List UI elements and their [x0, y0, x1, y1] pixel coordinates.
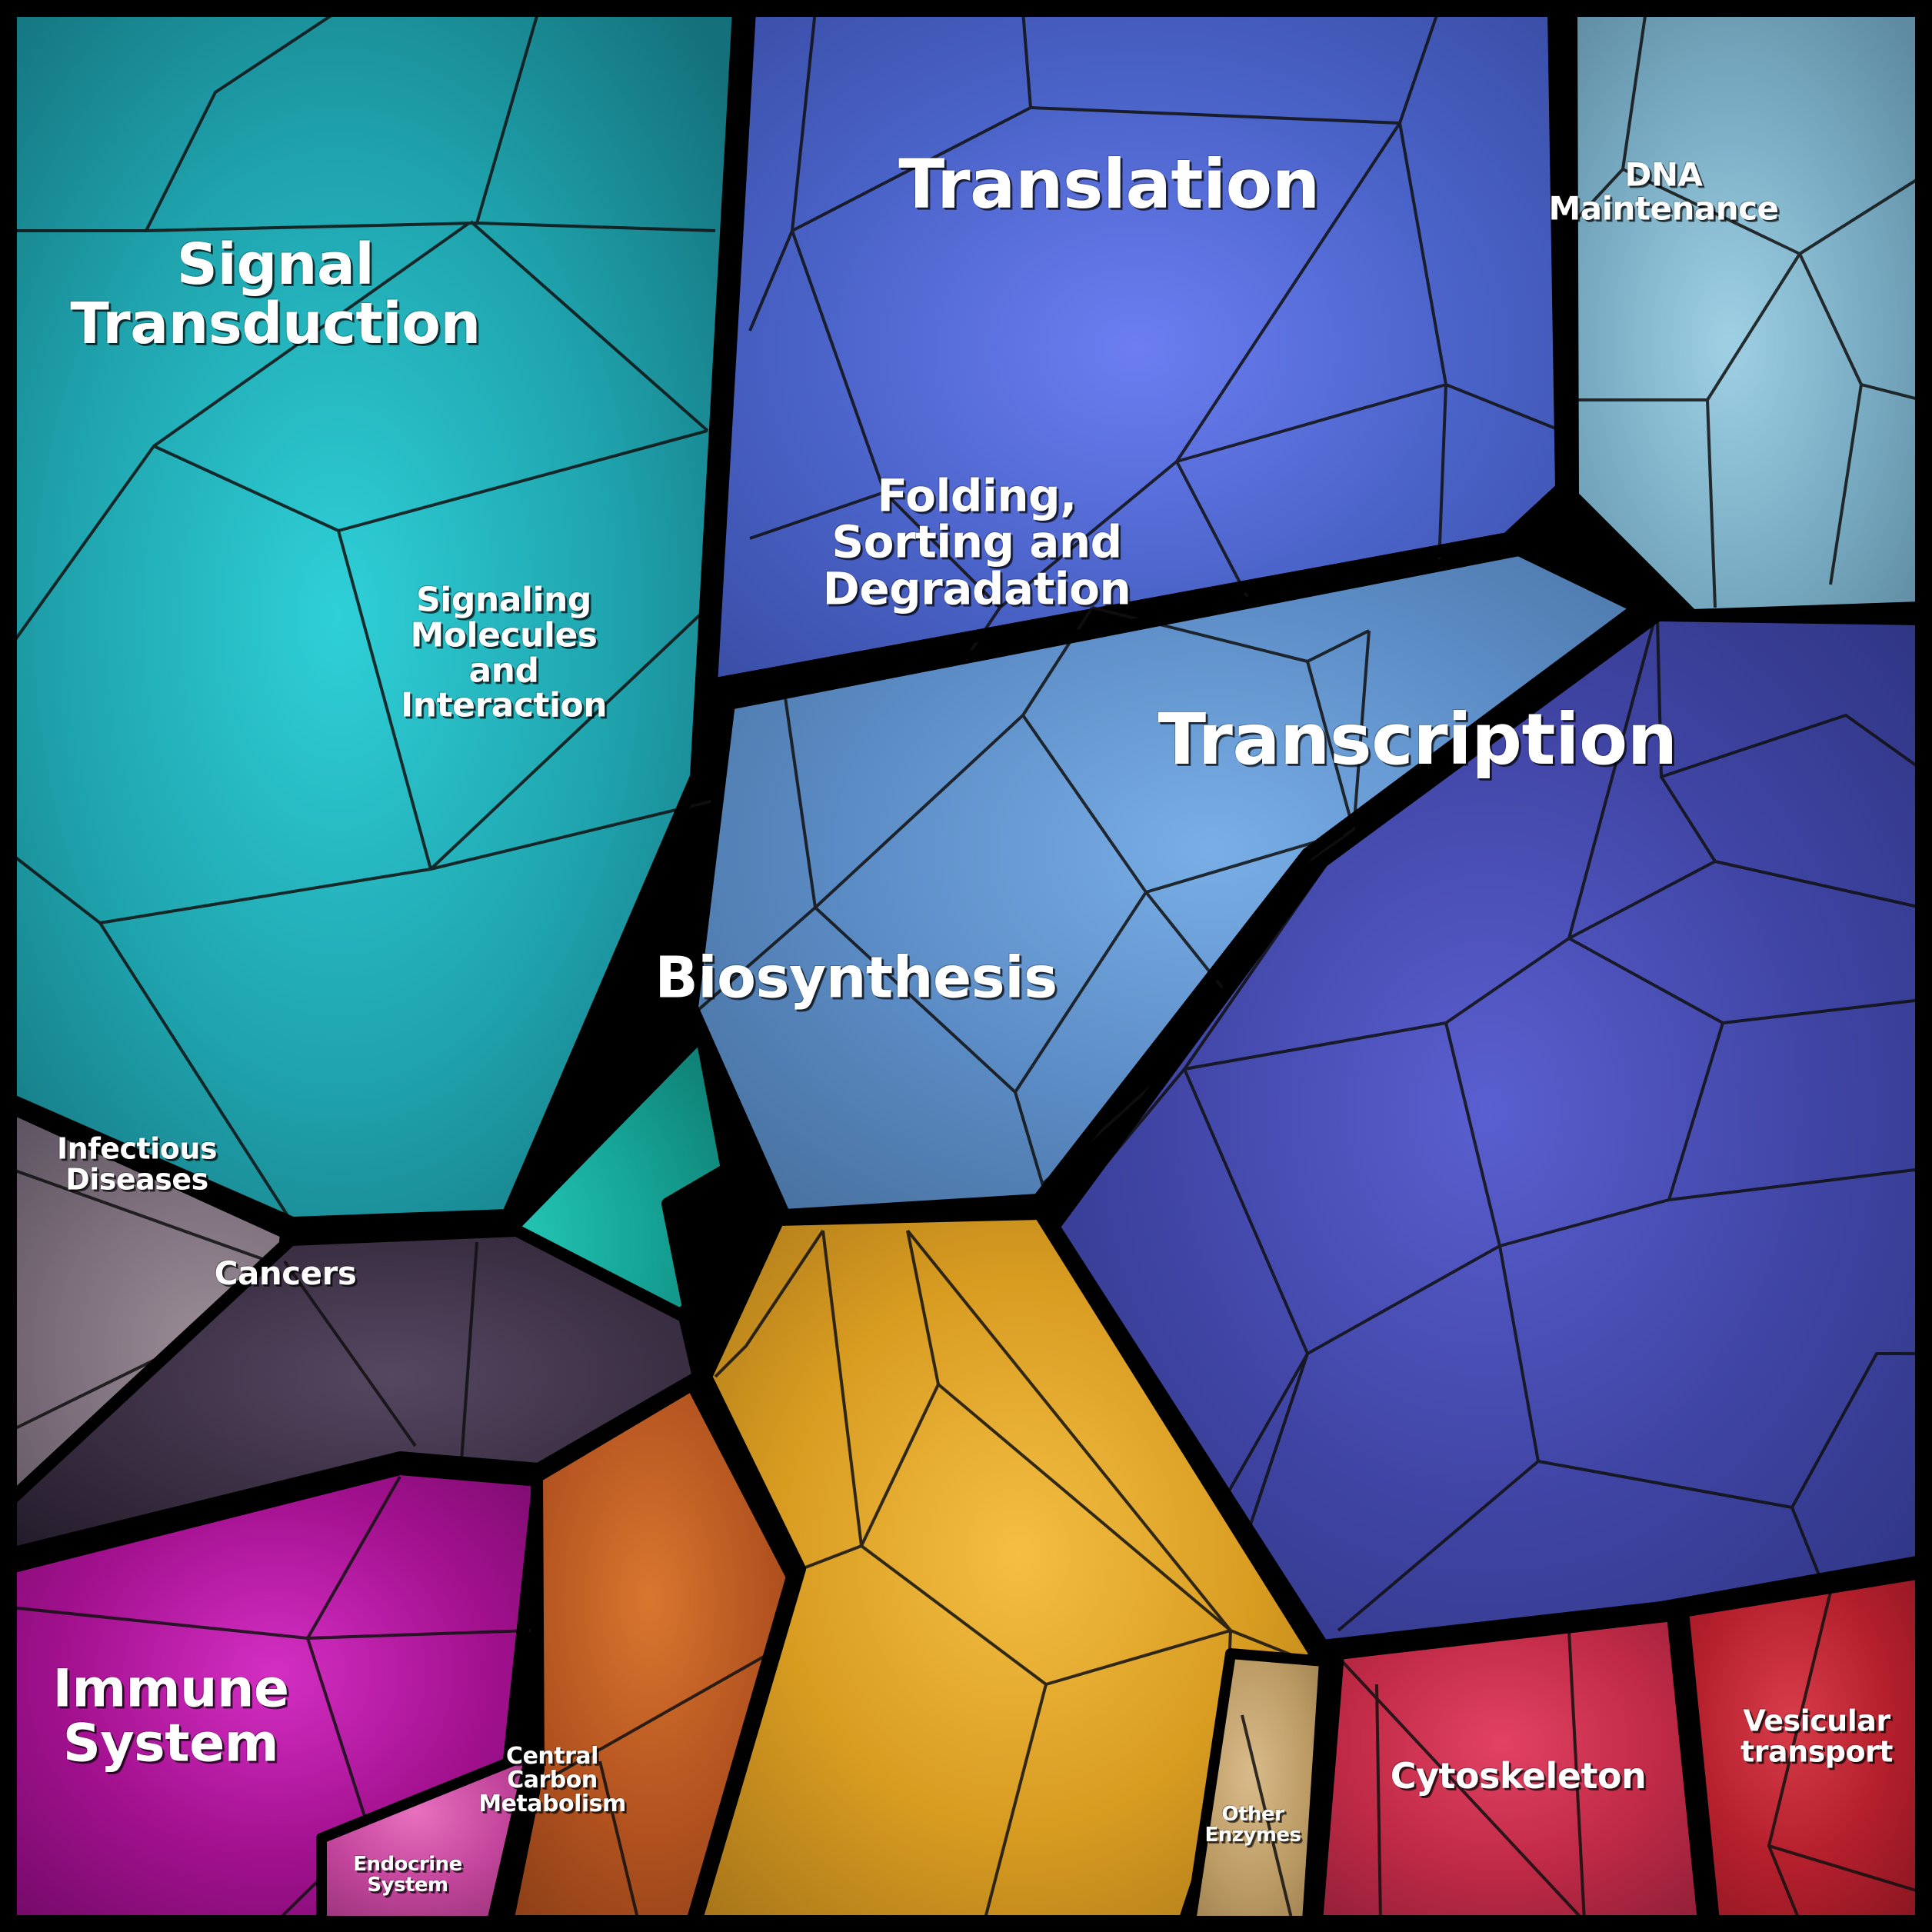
region-cytoskeleton[interactable] [1317, 1615, 1704, 1921]
region-fill [1571, 11, 1921, 615]
region-vesicular-transport[interactable] [1683, 1573, 1921, 1921]
region-dna-maintenance[interactable] [1571, 11, 1921, 615]
region-fill [1683, 1573, 1921, 1921]
voronoi-treemap-figure: Signal Transduction Translation DNA Main… [0, 0, 1932, 1932]
region-fill [1317, 1615, 1704, 1921]
voronoi-map-svg [0, 0, 1932, 1932]
